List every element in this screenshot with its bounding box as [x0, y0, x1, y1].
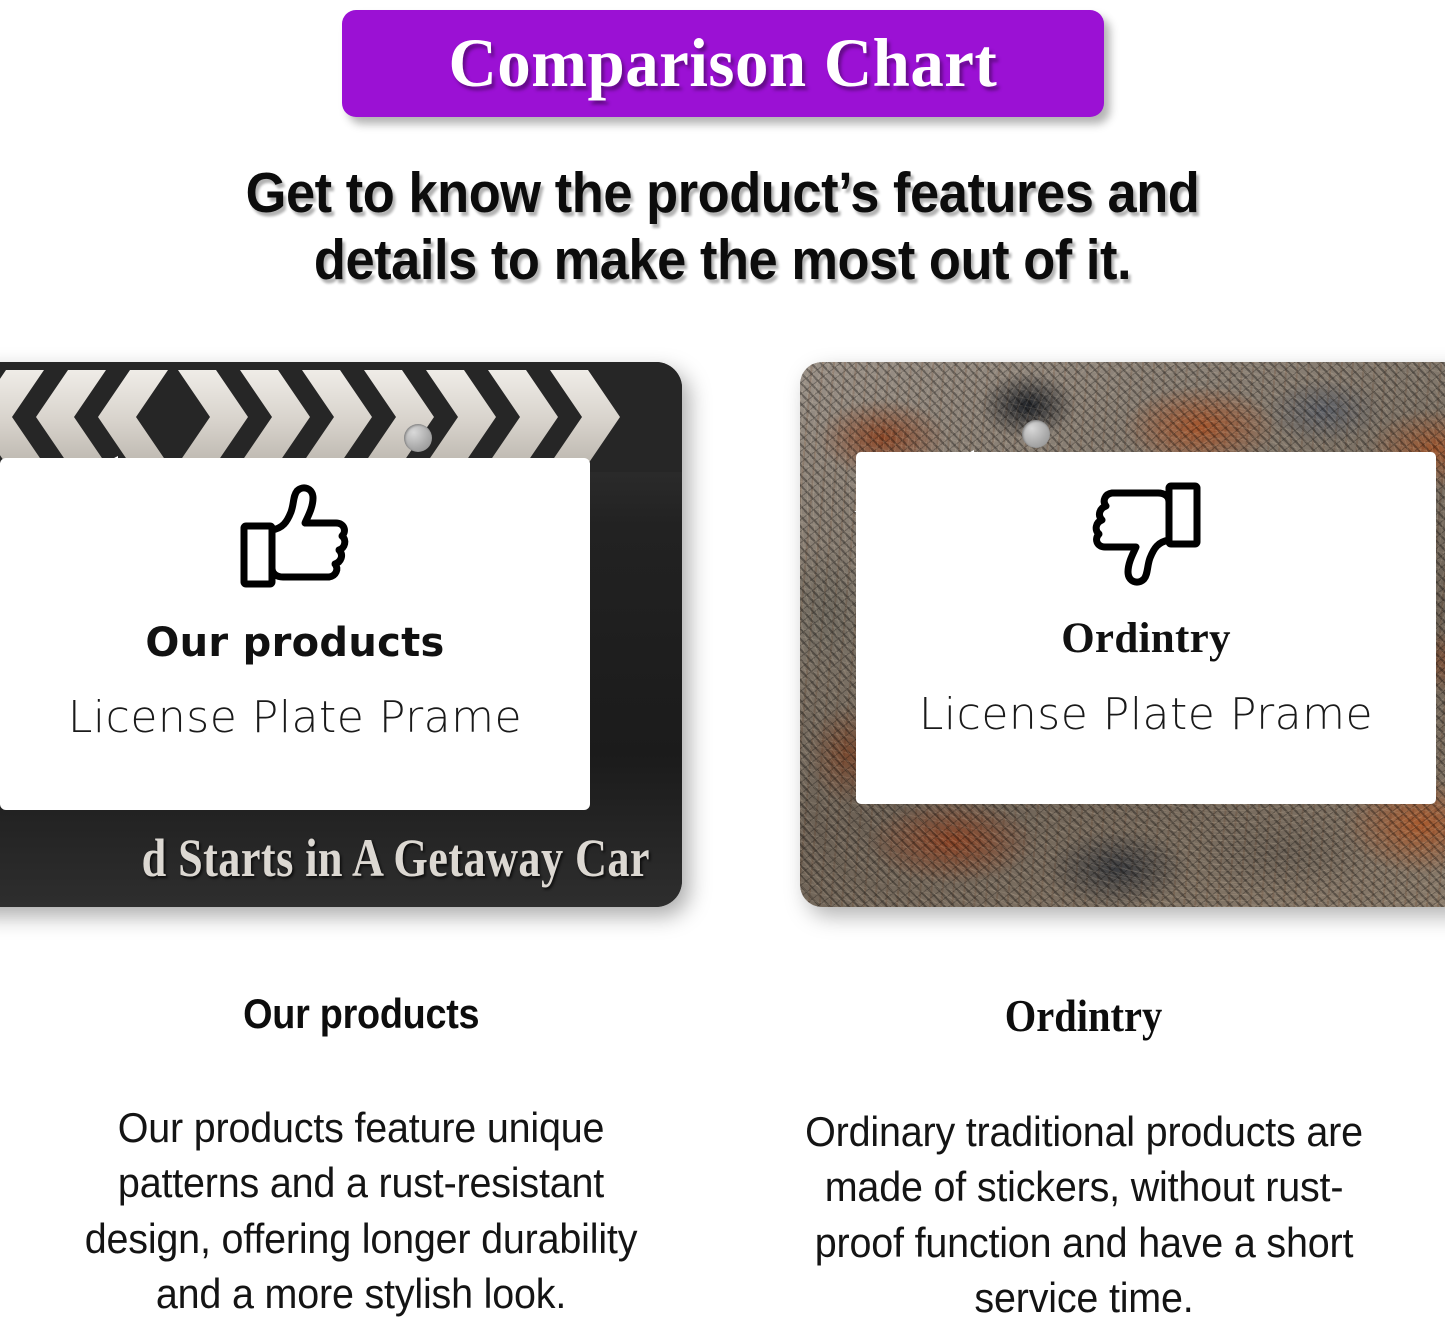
title-banner-container: Comparison Chart: [0, 10, 1445, 117]
thumbs-up-icon: [235, 482, 355, 594]
title-banner: Comparison Chart: [342, 10, 1104, 117]
thumbs-down-icon: [1086, 476, 1206, 588]
subtitle-line-2: details to make the most out of it.: [58, 227, 1387, 294]
comparison-panels: Our products License Plate Prame d Start…: [0, 352, 1445, 912]
our-product-brand: Our products: [145, 620, 444, 666]
our-product-description-heading: Our products: [243, 990, 479, 1038]
subtitle: Get to know the product’s features and d…: [58, 160, 1387, 295]
ordinary-product-description-body: Ordinary traditional products are made o…: [802, 1104, 1366, 1326]
our-product-description-body: Our products feature unique patterns and…: [79, 1100, 643, 1322]
chevron-pattern: [0, 362, 682, 472]
ordinary-product-description-heading: Ordintry: [1005, 990, 1163, 1042]
ordinary-product-description-column: Ordintry Ordinary traditional products a…: [723, 990, 1445, 1314]
ordinary-product-brand: Ordintry: [1061, 614, 1231, 663]
mounting-hole-left: [404, 424, 432, 452]
descriptions-row: Our products Our products feature unique…: [0, 990, 1445, 1314]
page-title: Comparison Chart: [448, 29, 997, 98]
ordinary-product-frame: Ordintry License Plate Prame: [800, 362, 1445, 907]
subtitle-line-1: Get to know the product’s features and: [58, 160, 1387, 227]
mounting-hole-right: [1022, 420, 1050, 448]
our-product-name: License Plate Prame: [68, 692, 522, 743]
our-product-description-column: Our products Our products feature unique…: [0, 990, 723, 1314]
frame-slogan: d Starts in A Getaway Car: [0, 809, 682, 907]
ordinary-product-name: License Plate Prame: [919, 689, 1373, 740]
our-product-frame: Our products License Plate Prame d Start…: [0, 362, 682, 907]
frame-slogan-text: d Starts in A Getaway Car: [142, 827, 650, 889]
